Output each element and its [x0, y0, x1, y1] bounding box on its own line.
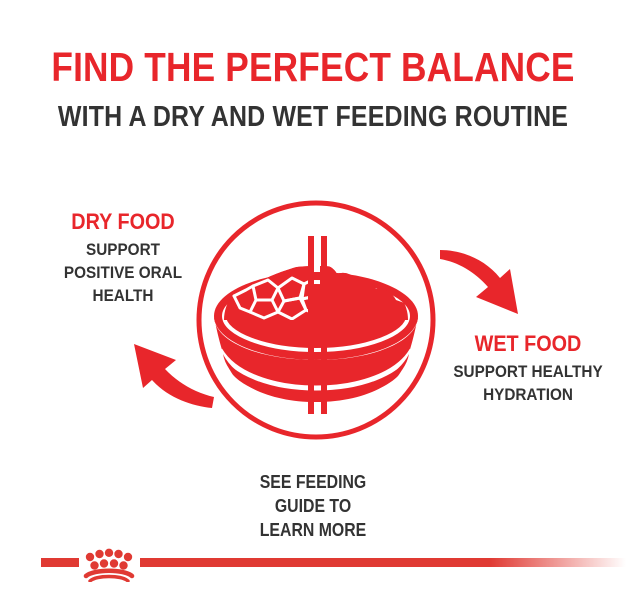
wet-food-label: WET FOOD SUPPORT HEALTHY HYDRATION [438, 331, 618, 406]
page-subtitle: WITH A DRY AND WET FEEDING ROUTINE [44, 100, 582, 134]
footer-caption: SEE FEEDING GUIDE TO LEARN MORE [0, 470, 626, 542]
infographic-root: FIND THE PERFECT BALANCE WITH A DRY AND … [0, 0, 626, 598]
footer-caption-line-2: GUIDE TO [38, 494, 589, 518]
split-pet-food-bowl-illustration [190, 192, 442, 446]
dry-food-title: DRY FOOD [47, 209, 200, 235]
dry-food-description-line-3: HEALTH [47, 284, 200, 307]
brand-bar-right-segment [140, 558, 626, 567]
curved-arrow-down-right-icon [438, 242, 550, 334]
footer-caption-line-1: SEE FEEDING [38, 470, 589, 494]
wet-food-description-line-2: HYDRATION [447, 383, 609, 406]
footer-caption-line-3: LEARN MORE [38, 518, 589, 542]
royal-canin-crown-icon [80, 546, 138, 582]
dry-food-description: SUPPORT POSITIVE ORAL HEALTH [47, 238, 200, 307]
headline-block: FIND THE PERFECT BALANCE WITH A DRY AND … [0, 44, 626, 134]
brand-bar-left-segment [41, 558, 79, 567]
wet-food-description-line-1: SUPPORT HEALTHY [447, 360, 609, 383]
wet-food-title: WET FOOD [447, 331, 609, 357]
brand-bar [0, 546, 626, 586]
dry-food-description-line-2: POSITIVE ORAL [47, 261, 200, 284]
wet-food-description: SUPPORT HEALTHY HYDRATION [447, 360, 609, 406]
dry-food-description-line-1: SUPPORT [47, 238, 200, 261]
dry-food-label: DRY FOOD SUPPORT POSITIVE ORAL HEALTH [38, 209, 208, 307]
page-title: FIND THE PERFECT BALANCE [44, 44, 582, 90]
